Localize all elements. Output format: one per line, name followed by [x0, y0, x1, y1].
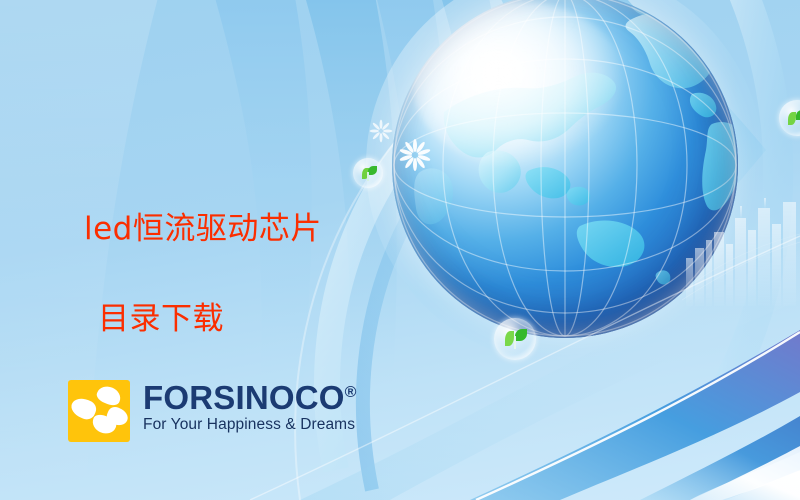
logo-wordmark: FORSINOCO® [143, 381, 357, 415]
logo-wordmark-text: FORSINOCO [143, 379, 345, 416]
leaf-shape [796, 110, 800, 120]
leaf-stem [514, 336, 516, 349]
headline-line-1: led恒流驱动芯片 [84, 207, 414, 252]
white-daisy-flower-2 [369, 119, 393, 143]
logo-tagline: For Your Happiness & Dreams [143, 416, 357, 434]
leaf-shape [788, 112, 796, 125]
registered-trademark-icon: ® [345, 384, 357, 401]
promo-banner: led恒流驱动芯片 目录下载 FORSINOCO® For Your Happi… [0, 0, 800, 500]
leaf-shape [515, 329, 527, 341]
page-title: led恒流驱动芯片 目录下载 [84, 162, 414, 387]
logo-text-block: FORSINOCO® For Your Happiness & Dreams [143, 380, 357, 434]
city-skyline-silhouette [682, 196, 800, 306]
headline-line-2: 目录下载 [98, 297, 414, 342]
bubble-with-green-leaf-2 [494, 318, 536, 360]
petal-top [95, 383, 124, 408]
company-logo[interactable]: FORSINOCO® For Your Happiness & Dreams [68, 380, 357, 442]
bubble-with-green-leaf-3 [779, 100, 800, 136]
leaf-shape [505, 331, 514, 346]
four-petal-pinwheel-icon [68, 380, 130, 442]
